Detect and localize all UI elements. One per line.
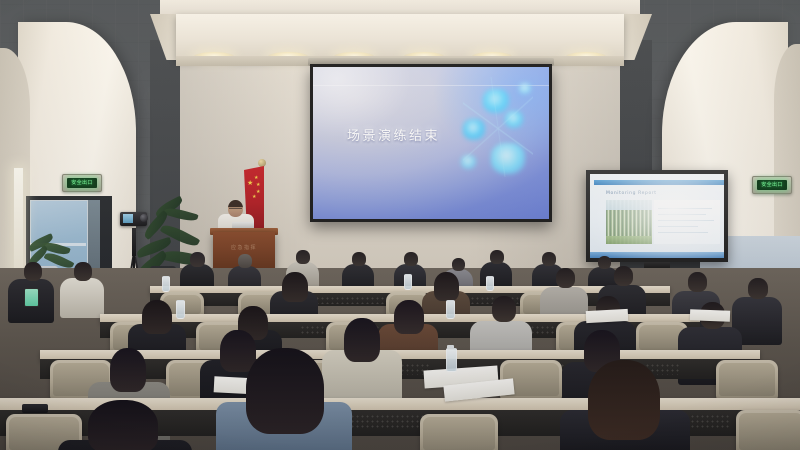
head — [556, 268, 575, 288]
mobile-phone[interactable] — [22, 404, 48, 413]
hair — [394, 300, 424, 334]
hair — [344, 318, 380, 362]
hair — [110, 348, 146, 392]
chair — [716, 360, 778, 400]
head — [542, 252, 556, 266]
flag-star-large: ★ — [247, 180, 253, 187]
exit-sign-left: 安全出口 — [62, 174, 102, 192]
tripod-column — [132, 228, 136, 256]
head — [74, 262, 92, 281]
chair — [420, 414, 498, 450]
document-page — [586, 309, 629, 323]
head — [688, 272, 707, 292]
flag-pole-finial — [258, 159, 266, 167]
head — [598, 256, 611, 269]
exit-sign-text: 安全出口 — [761, 183, 783, 188]
hair — [282, 272, 308, 302]
exit-sign-face: 安全出口 — [757, 180, 787, 190]
head — [352, 252, 366, 266]
head — [452, 258, 465, 271]
camera-lcd-screen — [123, 214, 133, 223]
head — [238, 254, 252, 268]
head — [614, 266, 633, 286]
head — [24, 262, 42, 281]
camera-lens-icon — [140, 214, 148, 222]
head — [748, 278, 768, 299]
speaker-glasses — [229, 208, 242, 212]
projection-screen: 场景演练结束 — [310, 64, 552, 222]
flag-star-1: ★ — [254, 176, 258, 181]
flag-star-2: ★ — [256, 183, 260, 188]
screen-glare — [590, 174, 724, 258]
hair — [246, 348, 324, 434]
glow-connector-lines — [463, 77, 533, 177]
document-page — [690, 309, 730, 321]
flag-star-4: ★ — [252, 195, 256, 200]
ceiling-soffit — [176, 14, 624, 60]
water-bottle — [446, 348, 457, 372]
slide-title-text: 场景演练结束 — [347, 125, 440, 144]
exit-sign-face: 安全出口 — [67, 178, 97, 188]
water-bottle — [486, 276, 494, 291]
hair — [434, 272, 459, 301]
podium-inscription: 应急指挥 — [213, 244, 275, 251]
mobile-phone[interactable] — [24, 288, 39, 307]
water-bottle — [446, 300, 455, 319]
secondary-display: Monitoring Report — [586, 170, 728, 262]
water-bottle — [176, 300, 185, 319]
flag-star-3: ★ — [256, 190, 260, 195]
bottle-cap — [447, 345, 454, 349]
torso — [60, 278, 104, 318]
hair — [588, 360, 660, 440]
water-bottle — [404, 274, 412, 290]
water-bottle — [162, 276, 170, 292]
chair — [736, 410, 800, 450]
projection-screen-surface: 场景演练结束 — [313, 67, 549, 219]
secondary-display-screen: Monitoring Report — [590, 174, 724, 258]
leaf — [163, 205, 198, 223]
hair — [88, 400, 158, 450]
head — [492, 296, 516, 322]
head — [296, 250, 310, 264]
conference-hall-photo: 安全出口 安全出口 场景演练结束 ★ ★ ★ ★ ★ — [0, 0, 800, 450]
head — [190, 252, 205, 267]
head — [490, 250, 504, 264]
head — [404, 252, 418, 266]
exit-sign-text: 安全出口 — [71, 181, 93, 186]
exit-sign-right: 安全出口 — [752, 176, 792, 194]
hair — [142, 300, 172, 334]
